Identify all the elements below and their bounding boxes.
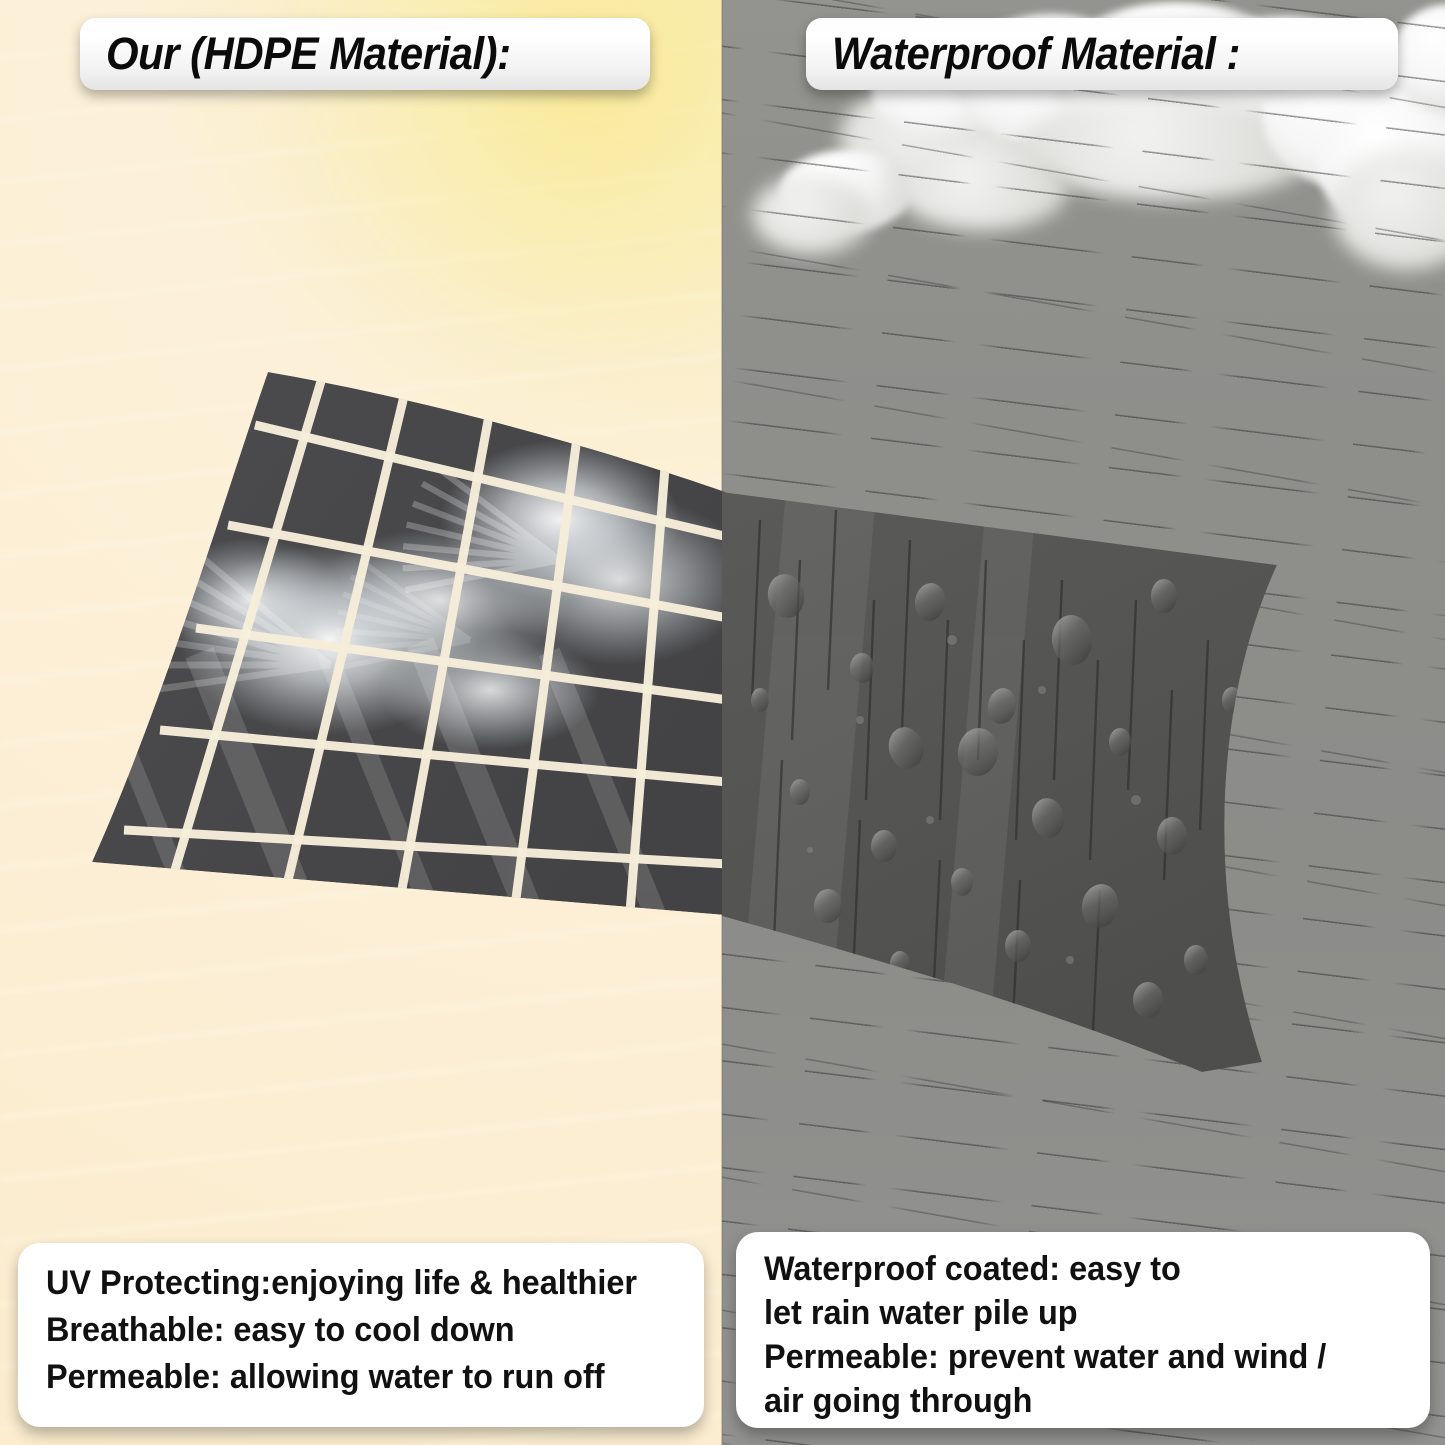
title-badge-left: Our (HDPE Material): bbox=[80, 18, 650, 90]
panel-left-title: Our (HDPE Material): bbox=[106, 28, 511, 80]
title-badge-right: Waterproof Material : bbox=[806, 18, 1398, 90]
caption-box-right: Waterproof coated: easy to let rain wate… bbox=[736, 1232, 1430, 1428]
product-comparison-infographic: Our (HDPE Material): Waterproof Material… bbox=[0, 0, 1445, 1445]
panel-right-title: Waterproof Material : bbox=[832, 28, 1240, 80]
caption-left-line-1: UV Protecting:enjoying life & healthier bbox=[46, 1260, 665, 1307]
caption-right-line-4: air going through bbox=[764, 1379, 1390, 1423]
caption-right-line-1: Waterproof coated: easy to bbox=[764, 1247, 1390, 1291]
panel-hdpe-material bbox=[0, 0, 723, 1445]
caption-left-line-2: Breathable: easy to cool down bbox=[46, 1307, 665, 1354]
caption-right-line-3: Permeable: prevent water and wind / bbox=[764, 1335, 1390, 1379]
panel-divider bbox=[721, 0, 723, 1445]
rain-icon bbox=[722, 0, 1445, 1445]
caption-box-left: UV Protecting:enjoying life & healthier … bbox=[18, 1243, 704, 1427]
panel-waterproof-material bbox=[722, 0, 1445, 1445]
caption-left-line-3: Permeable: allowing water to run off bbox=[46, 1354, 665, 1401]
caption-right-line-2: let rain water pile up bbox=[764, 1291, 1390, 1335]
